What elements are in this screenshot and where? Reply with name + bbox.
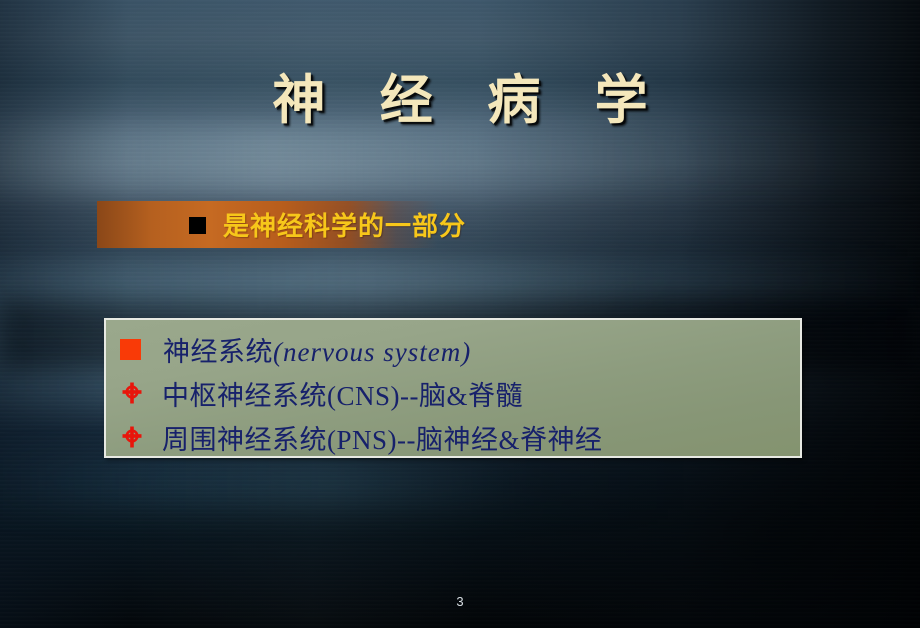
presentation-slide: 神 经 病 学 是神经科学的一部分 神经系统(nervous system) 中…	[0, 0, 920, 628]
content-line-1-en: (nervous system)	[273, 337, 471, 367]
orange-square-bullet-icon	[120, 339, 141, 360]
subtitle-banner-text: 是神经科学的一部分	[223, 206, 466, 243]
page-number: 3	[0, 594, 920, 609]
content-box: 神经系统(nervous system) 中枢神经系统(CNS)--脑&脊髓	[104, 318, 802, 458]
slide-title: 神 经 病 学	[0, 72, 920, 129]
content-line-2-text: 中枢神经系统(CNS)--脑&脊髓	[162, 374, 523, 413]
subtitle-banner-content: 是神经科学的一部分	[189, 206, 466, 243]
red-cross-circle-bullet-icon	[121, 426, 143, 448]
black-square-bullet-icon	[189, 217, 206, 234]
content-line-1-text: 神经系统(nervous system)	[163, 330, 471, 369]
content-line-2: 中枢神经系统(CNS)--脑&脊髓	[106, 371, 800, 415]
content-line-1: 神经系统(nervous system)	[106, 327, 800, 371]
content-line-1-cn: 神经系统	[163, 337, 273, 367]
subtitle-banner: 是神经科学的一部分	[97, 201, 437, 248]
red-cross-circle-bullet-icon	[121, 382, 143, 404]
content-line-3: 周围神经系统(PNS)--脑神经&脊神经	[106, 415, 800, 459]
content-line-3-text: 周围神经系统(PNS)--脑神经&脊神经	[162, 418, 603, 457]
